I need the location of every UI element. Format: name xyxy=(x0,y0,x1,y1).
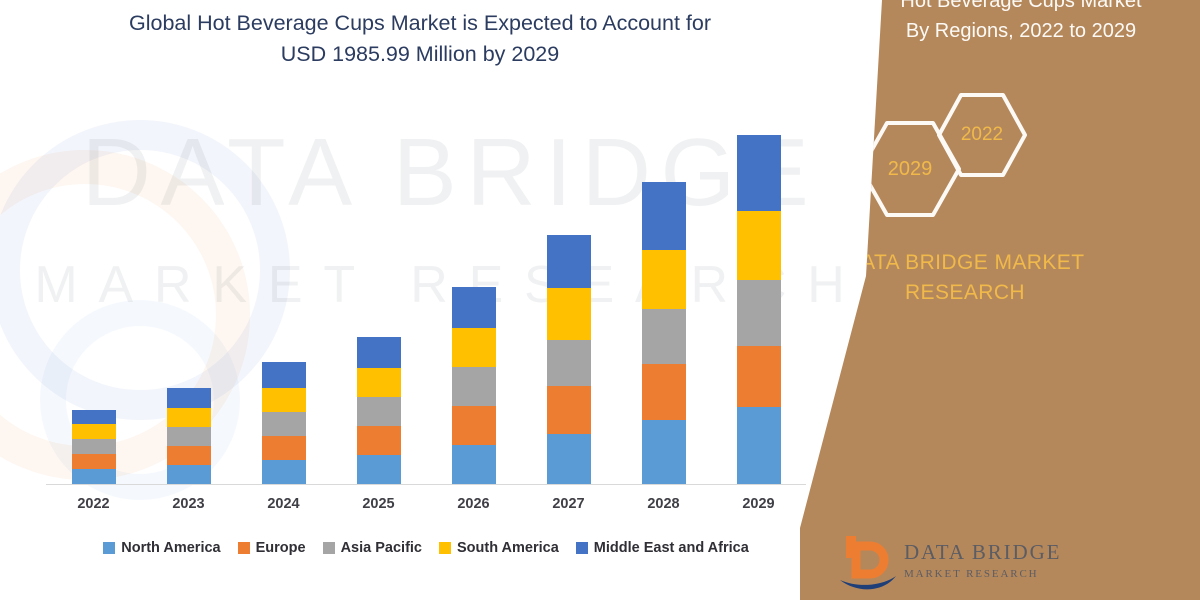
bar-segment xyxy=(357,397,401,426)
infographic-canvas: DATA BRIDGE MARKET RESEARCH Global Hot B… xyxy=(0,0,1200,600)
legend-swatch-icon xyxy=(103,542,115,554)
bar-segment xyxy=(452,445,496,484)
bar-segment xyxy=(452,287,496,328)
bar-group xyxy=(46,110,806,484)
dbmr-logo-icon xyxy=(838,532,898,594)
bar-segment xyxy=(642,182,686,250)
bar-segment xyxy=(547,235,591,288)
legend-item[interactable]: Middle East and Africa xyxy=(576,540,749,556)
bar-column xyxy=(49,110,139,484)
bar-segment xyxy=(72,439,116,454)
legend-label: South America xyxy=(457,540,559,556)
stacked-bar-2025 xyxy=(357,337,401,484)
legend-label: Middle East and Africa xyxy=(594,540,749,556)
stacked-bar-2023 xyxy=(167,388,211,484)
brand-line-2: RESEARCH xyxy=(800,278,1130,308)
bar-segment xyxy=(72,469,116,484)
legend-label: North America xyxy=(121,540,220,556)
bar-segment xyxy=(262,388,306,412)
bar-segment xyxy=(357,455,401,484)
x-axis-label-2023: 2023 xyxy=(144,496,234,512)
stacked-bar-2022 xyxy=(72,410,116,484)
bar-segment xyxy=(167,388,211,408)
bar-segment xyxy=(737,280,781,346)
stacked-bar-2026 xyxy=(452,287,496,484)
bar-segment xyxy=(72,454,116,469)
bar-column xyxy=(524,110,614,484)
bar-segment xyxy=(167,446,211,465)
legend-label: Europe xyxy=(256,540,306,556)
bar-column xyxy=(429,110,519,484)
bar-segment xyxy=(72,410,116,424)
dbmr-logo-subtitle: MARKET RESEARCH xyxy=(904,568,1039,580)
legend-label: Asia Pacific xyxy=(341,540,422,556)
panel-title-line-1: Hot Beverage Cups Market xyxy=(856,0,1186,16)
hexagon-group: 2022 2029 xyxy=(858,92,1078,232)
bar-segment xyxy=(262,412,306,436)
bar-segment xyxy=(452,328,496,367)
bar-segment xyxy=(642,309,686,364)
brand-line-1: DATA BRIDGE MARKET xyxy=(800,248,1130,278)
bar-segment xyxy=(642,420,686,484)
x-axis-labels: 20222023202420252026202720282029 xyxy=(46,496,806,512)
x-axis-label-2022: 2022 xyxy=(49,496,139,512)
stacked-bar-2027 xyxy=(547,235,591,484)
x-axis-label-2027: 2027 xyxy=(524,496,614,512)
hexagon-2029: 2029 xyxy=(858,120,962,218)
chart-plot-area: 20222023202420252026202720282029 North A… xyxy=(0,0,840,600)
chart-legend: North AmericaEuropeAsia PacificSouth Ame… xyxy=(46,540,806,556)
legend-swatch-icon xyxy=(238,542,250,554)
brand-panel: Hot Beverage Cups Market By Regions, 202… xyxy=(800,0,1200,600)
bar-segment xyxy=(452,406,496,445)
bar-segment xyxy=(167,427,211,446)
x-axis-label-2029: 2029 xyxy=(714,496,804,512)
bar-segment xyxy=(547,340,591,386)
stacked-bar-2028 xyxy=(642,182,686,484)
panel-title-line-2: By Regions, 2022 to 2029 xyxy=(856,16,1186,46)
bar-segment xyxy=(167,408,211,427)
bar-column xyxy=(239,110,329,484)
bar-segment xyxy=(167,465,211,484)
dbmr-logo-name: DATA BRIDGE xyxy=(904,540,1061,565)
x-axis-label-2024: 2024 xyxy=(239,496,329,512)
bar-segment xyxy=(262,460,306,484)
x-axis-label-2028: 2028 xyxy=(619,496,709,512)
bar-segment xyxy=(737,211,781,280)
bar-segment xyxy=(737,135,781,211)
bar-segment xyxy=(357,368,401,397)
bar-segment xyxy=(357,426,401,455)
dbmr-logo: DATA BRIDGE MARKET RESEARCH xyxy=(838,530,1118,600)
legend-swatch-icon xyxy=(439,542,451,554)
bar-column xyxy=(144,110,234,484)
bar-column xyxy=(334,110,424,484)
bar-segment xyxy=(452,367,496,406)
bar-segment xyxy=(642,250,686,309)
bar-segment xyxy=(547,288,591,340)
bar-segment xyxy=(737,407,781,484)
bar-segment xyxy=(547,386,591,434)
brand-name: DATA BRIDGE MARKET RESEARCH xyxy=(800,248,1130,308)
legend-item[interactable]: South America xyxy=(439,540,559,556)
panel-title: Hot Beverage Cups Market By Regions, 202… xyxy=(856,0,1186,46)
bar-segment xyxy=(262,436,306,460)
bar-segment xyxy=(72,424,116,439)
bar-segment xyxy=(547,434,591,484)
bar-column xyxy=(619,110,709,484)
legend-swatch-icon xyxy=(576,542,588,554)
bar-segment xyxy=(642,364,686,420)
hexagon-2029-label: 2029 xyxy=(888,158,933,181)
hexagon-2022-label: 2022 xyxy=(961,124,1003,146)
legend-swatch-icon xyxy=(323,542,335,554)
x-axis-label-2026: 2026 xyxy=(429,496,519,512)
legend-item[interactable]: Asia Pacific xyxy=(323,540,422,556)
x-axis-label-2025: 2025 xyxy=(334,496,424,512)
legend-item[interactable]: North America xyxy=(103,540,220,556)
stacked-bar-2024 xyxy=(262,362,306,484)
bar-segment xyxy=(737,346,781,407)
bar-column xyxy=(714,110,804,484)
bar-segment xyxy=(357,337,401,368)
bar-segment xyxy=(262,362,306,388)
stacked-bar-2029 xyxy=(737,135,781,484)
legend-item[interactable]: Europe xyxy=(238,540,306,556)
x-axis-line xyxy=(46,484,806,485)
